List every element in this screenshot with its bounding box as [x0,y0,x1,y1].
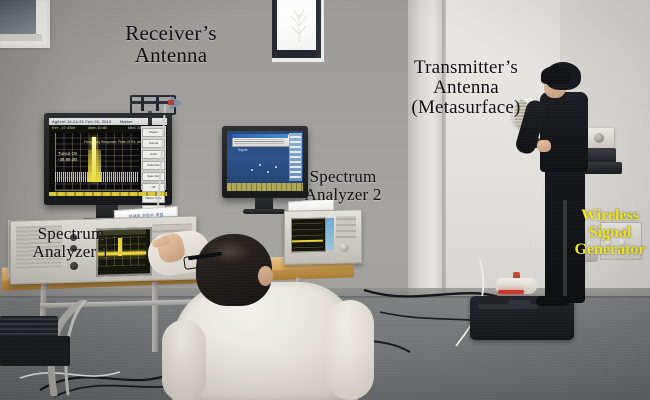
label-spectrum-analyzer-2: Spectrum Analyzer 2 [288,168,398,204]
monitor-2-app-titlebar [232,134,288,138]
label-wsg-line1: Wireless [570,208,650,225]
receiver-antenna-element-2 [156,95,159,111]
generator-aperture [594,133,604,143]
spectrum-analyzer-2-keypad[interactable] [336,216,356,242]
monitor-1-titlebar-text: Agilent 14:24:31 Feb 26, 2015 [52,119,111,124]
window-top-right-frame [316,0,321,58]
receiver-antenna-connector [168,100,174,105]
window-top-left-frame [272,0,277,58]
label-transmitter-antenna: Transmitter’s Antenna (Metasurface) [392,58,540,118]
monitor-2-base [243,209,285,214]
monitor-1-peak-right-skirt [96,150,101,182]
monitor-1-marker-value: -38.89 dB [58,157,77,163]
label-wireless-signal-generator: Wireless Signal Generator [570,208,650,258]
label-wsg-line2: Signal [570,225,650,242]
monitor-2-plot-points [244,158,284,178]
standing-person-fringe [541,66,571,84]
monitor-1-marker-readout: Tuned On -38.89 dB [58,151,77,163]
seated-person-right-arm [326,300,374,400]
label-receiver-antenna: Receiver’s Antenna [106,22,236,66]
seated-person-glasses-lens [183,255,199,270]
window-left-glass [0,0,36,34]
table-leg-mid [152,282,158,352]
equipment-case-handle[interactable] [508,300,530,308]
monitor-1-attenuation: Atten 10 dB [88,126,107,130]
receiver-antenna-element-1 [141,95,144,111]
standing-person-shoe [536,296,570,306]
standing-person-hand [537,140,551,152]
label-receiver-line2: Antenna [106,44,236,66]
seated-person-left-arm [162,320,206,400]
lab-photo-scene: Agilent 14:24:31 Feb 26, 2015 Marker Ref… [0,0,650,400]
monitor-1-bottom-status-bar [49,192,167,196]
window-left-sill [0,34,42,41]
label-receiver-line1: Receiver’s [106,22,236,44]
label-transmitter-line2: Antenna [392,78,540,98]
spectrum-analyzer-2-softkeys[interactable] [326,218,334,250]
window-tree-silhouette [286,4,312,42]
label-sa1-line2: Analyzer 1 [16,243,126,261]
spectrum-analyzer-2-grid [292,220,323,249]
label-transmitter-line3: (Metasurface) [392,98,540,118]
monitor-1-ref-level: Ref -10 dBm [52,126,75,130]
label-wsg-line3: Generator [570,242,650,259]
receiver-antenna-boom [130,101,172,104]
label-spectrum-analyzer-1: Spectrum Analyzer 1 [16,225,126,261]
monitor-1-signal-peak [92,137,96,182]
window-top-bottom-frame [274,50,320,58]
monitor-2-screen-label: Signal [238,148,247,152]
label-sa2-line1: Spectrum [288,168,398,186]
sa1-power-button[interactable] [70,262,78,270]
monitor-1-titlebar-right-text: Marker [120,119,132,124]
label-transmitter-line1: Transmitter’s [392,58,540,78]
floor-shelf-base [0,336,70,366]
standing-person-torso [540,92,588,172]
monitor-2-app-content [234,139,284,144]
label-sa2-line2: Analyzer 2 [288,186,398,204]
standing-person-leg-gap [563,200,567,300]
label-sa1-line1: Spectrum [16,225,126,243]
seated-person-ear [258,266,273,286]
